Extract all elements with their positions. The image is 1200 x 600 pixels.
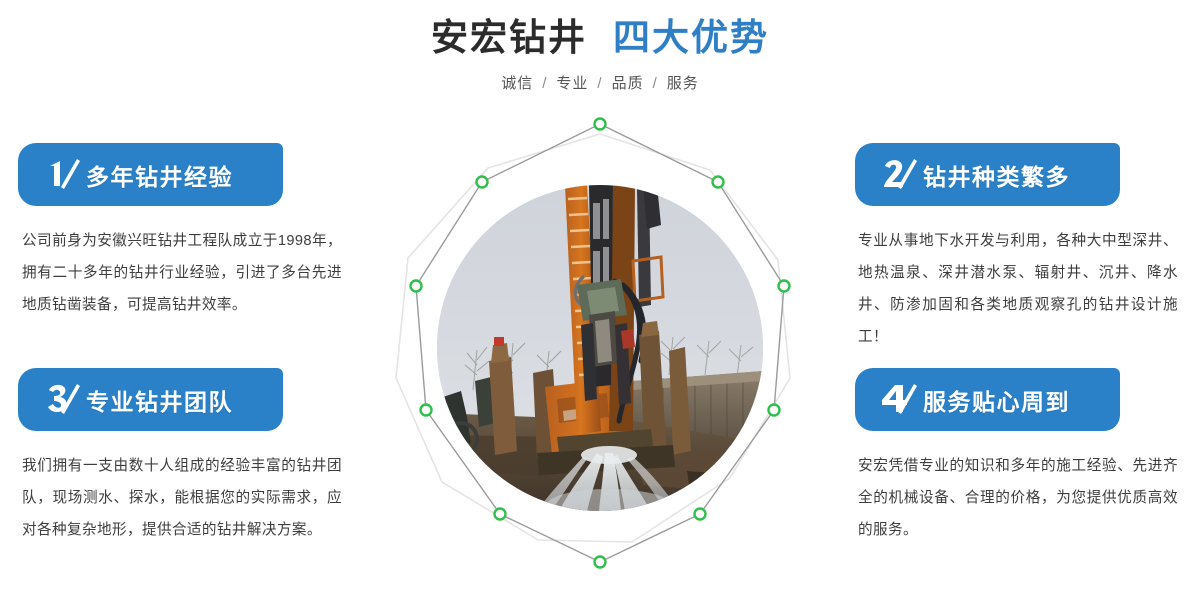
feature-card-4: 服务贴心周到 安宏凭借专业的知识和多年的施工经验、先进齐全的机械设备、合理的价格… <box>855 368 1185 546</box>
subtitle-separator: / <box>653 75 658 92</box>
numeral-three-icon <box>40 378 84 422</box>
subtitle-separator: / <box>542 75 547 92</box>
numeral-four-icon <box>877 378 921 422</box>
vertex-marker <box>495 509 506 520</box>
title-main-text: 安宏钻井 <box>431 17 587 58</box>
drilling-rig-photo <box>437 185 763 511</box>
feature-title-2: 钻井种类繁多 <box>923 158 1070 192</box>
vertex-marker <box>595 119 606 130</box>
vertex-marker <box>411 281 422 292</box>
numeral-two-icon <box>877 153 921 197</box>
feature-card-3: 专业钻井团队 我们拥有一支由数十人组成的经验丰富的钻井团队，现场测水、探水，能根… <box>18 368 348 546</box>
subtitle-item-1: 诚信 <box>501 75 533 92</box>
feature-body-2: 专业从事地下水开发与利用，各种大中型深井、地热温泉、深井潜水泵、辐射井、沉井、降… <box>858 225 1178 353</box>
subtitle-item-3: 品质 <box>612 75 644 92</box>
vertex-marker <box>713 177 724 188</box>
subtitle-separator: / <box>597 75 602 92</box>
feature-badge-2: 钻井种类繁多 <box>855 143 1120 206</box>
title-accent-text: 四大优势 <box>613 17 769 58</box>
feature-card-1: 多年钻井经验 公司前身为安徽兴旺钻井工程队成立于1998年，拥有二十多年的钻井行… <box>18 143 348 321</box>
subtitle-item-2: 专业 <box>556 75 588 92</box>
subtitle-item-4: 服务 <box>667 75 699 92</box>
feature-title-4: 服务贴心周到 <box>923 383 1070 417</box>
feature-body-4: 安宏凭借专业的知识和多年的施工经验、先进齐全的机械设备、合理的价格，为您提供优质… <box>858 450 1178 546</box>
center-graphic <box>370 110 830 600</box>
vertex-marker <box>421 405 432 416</box>
vertex-marker <box>779 281 790 292</box>
feature-title-3: 专业钻井团队 <box>86 383 233 417</box>
vertex-marker <box>477 177 488 188</box>
page-header: 安宏钻井四大优势 诚信/专业/品质/服务 <box>0 0 1200 110</box>
feature-badge-3: 专业钻井团队 <box>18 368 283 431</box>
numeral-one-icon <box>40 153 84 197</box>
vertex-marker <box>769 405 780 416</box>
feature-title-1: 多年钻井经验 <box>86 158 233 192</box>
page-title: 安宏钻井四大优势 <box>0 14 1200 62</box>
feature-badge-1: 多年钻井经验 <box>18 143 283 206</box>
vertex-marker <box>695 509 706 520</box>
header-subtitle: 诚信/专业/品质/服务 <box>0 73 1200 95</box>
feature-badge-4: 服务贴心周到 <box>855 368 1120 431</box>
feature-body-3: 我们拥有一支由数十人组成的经验丰富的钻井团队，现场测水、探水，能根据您的实际需求… <box>22 450 342 546</box>
vertex-marker <box>595 557 606 568</box>
feature-card-2: 钻井种类繁多 专业从事地下水开发与利用，各种大中型深井、地热温泉、深井潜水泵、辐… <box>855 143 1185 353</box>
feature-body-1: 公司前身为安徽兴旺钻井工程队成立于1998年，拥有二十多年的钻井行业经验，引进了… <box>22 225 342 321</box>
